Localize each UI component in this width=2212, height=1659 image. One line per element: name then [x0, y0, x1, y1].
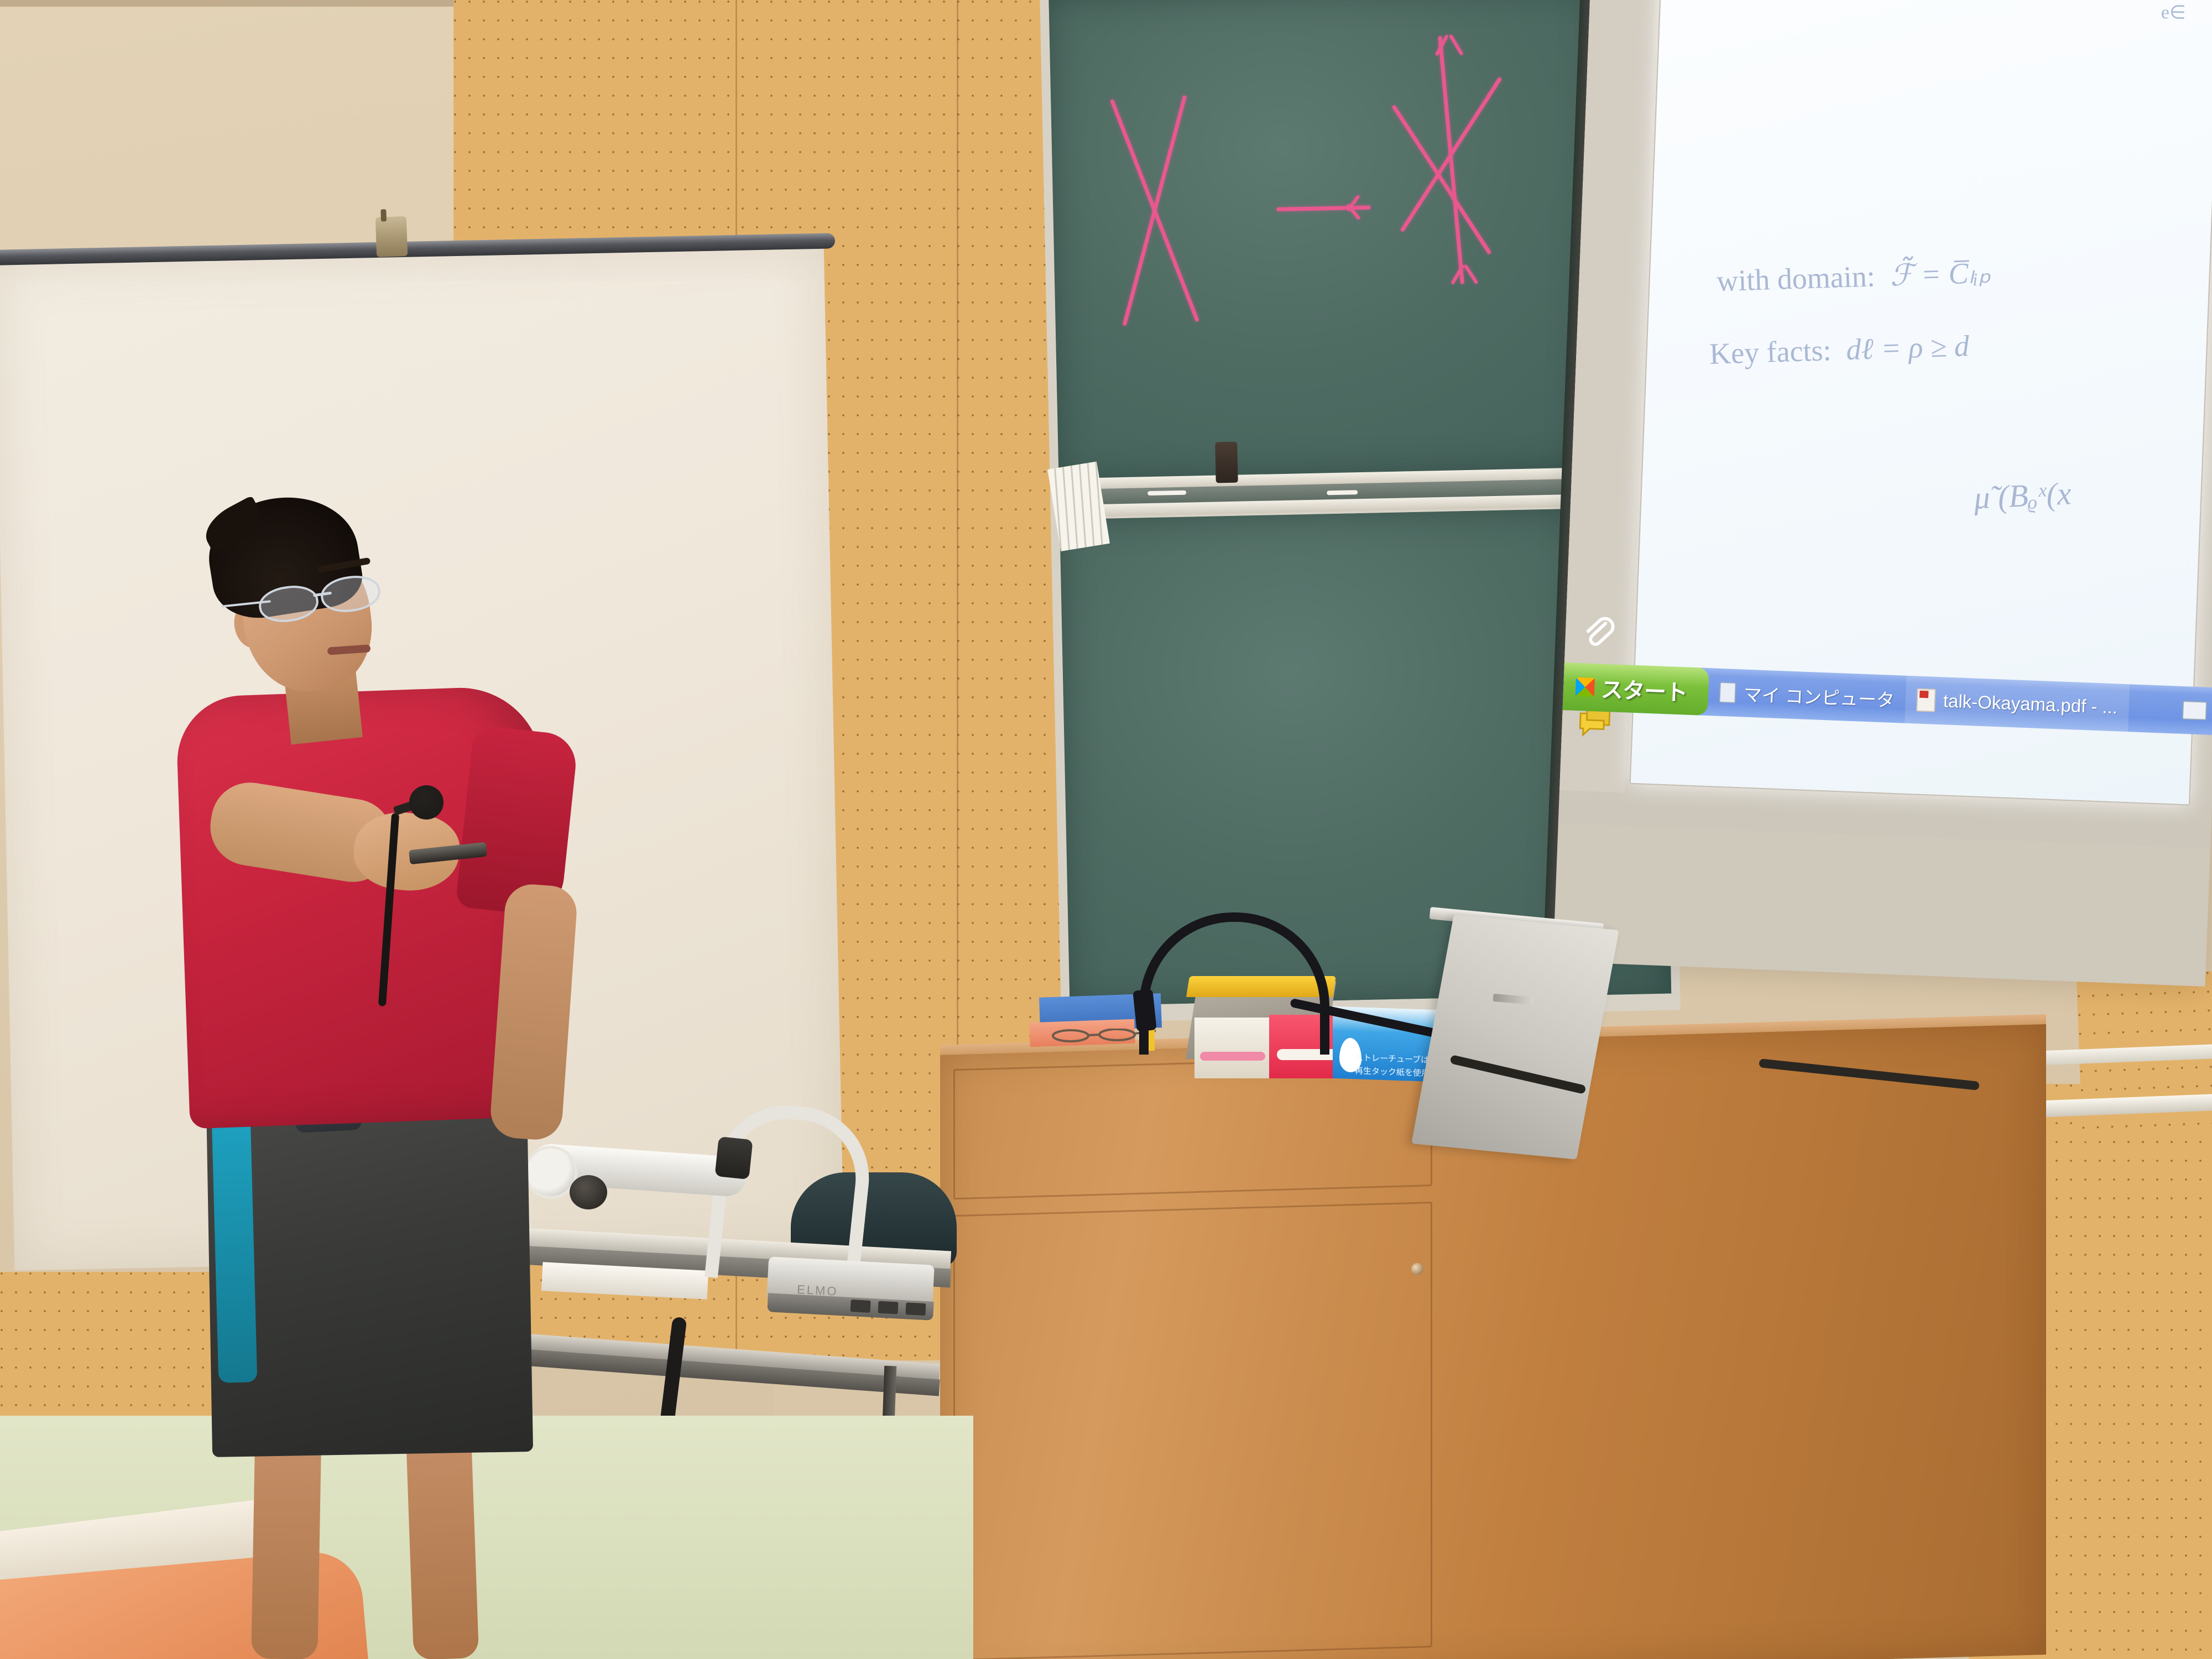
podium-panel-lower: [953, 1202, 1432, 1659]
my-computer-icon: [1719, 682, 1736, 703]
taskbar-item-label: talk-Okayama.pdf - ...: [1943, 690, 2118, 718]
slide-measure-line: μ̃ (Bᵨˣ(x: [1973, 474, 2072, 517]
lapel-microphone[interactable]: [409, 785, 444, 820]
tray-panel-icon[interactable]: [2182, 701, 2207, 721]
microphone-cable-ferrite: [1133, 989, 1157, 1031]
taskbar-item-label: マイ コンピュータ: [1743, 680, 1895, 712]
chalk-piece[interactable]: [1327, 490, 1358, 495]
windows-flag-icon: [1575, 677, 1595, 697]
document-camera-port: [851, 1300, 871, 1313]
start-button[interactable]: スタート: [1563, 662, 1709, 716]
start-button-label: スタート: [1600, 672, 1688, 707]
screen-mount-bracket: [375, 216, 408, 257]
system-tray[interactable]: [2173, 686, 2212, 735]
chalk-piece[interactable]: [1147, 491, 1186, 495]
sticky-note-comments-icon[interactable]: [1575, 708, 1612, 743]
slide-formula-energy-subscript: e∈: [2161, 1, 2186, 24]
document-camera-knob[interactable]: [570, 1175, 607, 1209]
paperclip-attachments-icon[interactable]: [1579, 613, 1616, 648]
pdf-document-icon: [1916, 688, 1936, 712]
pdf-viewer-window: Ẽ(u,u) = Σ e∈ with domain: ℱ̃ = C̅ₗᵢₚ Ke…: [1558, 0, 2212, 848]
slide-domain-line: with domain: ℱ̃ = C̅ₗᵢₚ: [1716, 255, 1991, 299]
document-camera-port: [905, 1302, 926, 1316]
document-camera-port: [878, 1301, 898, 1314]
lecture-hall-photo: Ẽ(u,u) = Σ e∈ with domain: ℱ̃ = C̅ₗᵢₚ Ke…: [0, 0, 2212, 1659]
slide-keyfacts-line: Key facts: dℓ = ρ ≥ d: [1709, 328, 1970, 371]
document-camera-light-head: [714, 1136, 753, 1180]
taskbar-item-my-computer[interactable]: マイ コンピュータ: [1707, 668, 1906, 723]
projection-screen-right: Ẽ(u,u) = Σ e∈ with domain: ℱ̃ = C̅ₗᵢₚ Ke…: [1553, 0, 2212, 987]
blackboard-eraser[interactable]: [1215, 442, 1238, 483]
taskbar-item-pdf-document[interactable]: talk-Okayama.pdf - ...: [1905, 676, 2129, 732]
